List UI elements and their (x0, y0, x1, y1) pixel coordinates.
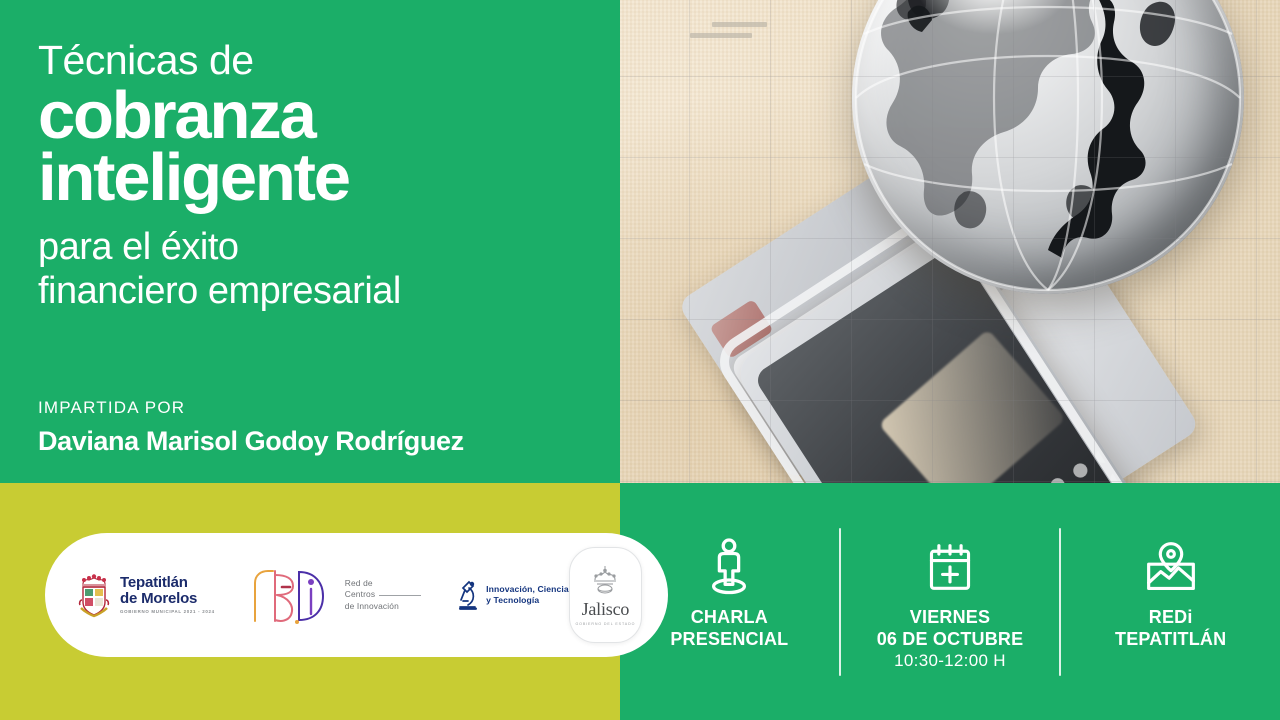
hero-photo (620, 0, 1280, 483)
logo-redi: Red de Centros de Innovación (249, 565, 421, 625)
redi-rule (379, 595, 421, 596)
speaker-block: IMPARTIDA POR Daviana Marisol Godoy Rodr… (38, 398, 598, 457)
icyt-line-1: Innovación, Ciencia (486, 584, 569, 595)
hero-title-block: Técnicas de cobranza inteligente para el… (38, 38, 598, 313)
microscope-icon (457, 579, 479, 611)
sponsor-logo-bar: Tepatitlán de Morelos GOBIERNO MUNICIPAL… (45, 533, 668, 657)
globe-sphere (852, 0, 1244, 294)
date-line-1: VIERNES (877, 606, 1024, 628)
tepatitlan-line-3: GOBIERNO MUNICIPAL 2021 - 2024 (120, 610, 215, 615)
paper-pencil-marks (690, 22, 767, 38)
event-poster: Técnicas de cobranza inteligente para el… (0, 0, 1280, 720)
redi-line-2-row: Centros (345, 589, 421, 600)
tepatitlan-line-2: de Morelos (120, 591, 215, 607)
redi-wordmark-icon (249, 565, 335, 625)
title-line-3: inteligente (38, 146, 598, 210)
tepatitlan-coat-of-arms-icon (77, 572, 111, 618)
jalisco-crown-icon (588, 564, 622, 598)
modality-lines: CHARLA PRESENCIAL (670, 606, 788, 651)
speaker-name: Daviana Marisol Godoy Rodríguez (38, 426, 598, 457)
venue-lines: REDi TEPATITLÁN (1115, 606, 1226, 651)
info-block-venue: REDi TEPATITLÁN (1061, 522, 1280, 682)
subtitle-line-2: financiero empresarial (38, 269, 598, 313)
redi-line-3: de Innovación (345, 601, 421, 612)
date-line-2: 06 DE OCTUBRE (877, 628, 1024, 650)
redi-line-1: Red de (345, 578, 421, 589)
calendar-plus-icon (925, 536, 975, 598)
tepatitlan-line-1: Tepatitlán (120, 575, 215, 591)
venue-line-1: REDi (1115, 606, 1226, 628)
person-podium-icon (703, 536, 755, 598)
title-line-2: cobranza (38, 84, 598, 148)
tepatitlan-wordmark: Tepatitlán de Morelos GOBIERNO MUNICIPAL… (120, 575, 215, 614)
info-block-date: VIERNES 06 DE OCTUBRE 10:30-12:00 H (841, 522, 1060, 682)
jalisco-wordmark: Jalisco (582, 599, 630, 620)
logo-jalisco: Jalisco GOBIERNO DEL ESTADO (569, 547, 642, 643)
event-info-bar: CHARLA PRESENCIAL (620, 483, 1280, 720)
icyt-line-2: y Tecnología (486, 595, 569, 606)
modality-line-2: PRESENCIAL (670, 628, 788, 650)
logo-innovacion-ciencia-tecnologia: Innovación, Ciencia y Tecnología (457, 579, 569, 611)
logo-tepatitlan-de-morelos: Tepatitlán de Morelos GOBIERNO MUNICIPAL… (77, 572, 215, 618)
icyt-wordmark: Innovación, Ciencia y Tecnología (486, 584, 569, 606)
venue-line-2: TEPATITLÁN (1115, 628, 1226, 650)
glass-globe (852, 0, 1244, 294)
map-pin-icon (1144, 536, 1198, 598)
date-lines: VIERNES 06 DE OCTUBRE 10:30-12:00 H (877, 606, 1024, 672)
speaker-label: IMPARTIDA POR (38, 398, 598, 418)
redi-line-2: Centros (345, 589, 375, 600)
subtitle-line-1: para el éxito (38, 225, 598, 269)
jalisco-subtitle: GOBIERNO DEL ESTADO (575, 622, 635, 626)
redi-tagline: Red de Centros de Innovación (345, 578, 421, 611)
date-line-3: 10:30-12:00 H (877, 650, 1024, 671)
modality-line-1: CHARLA (670, 606, 788, 628)
